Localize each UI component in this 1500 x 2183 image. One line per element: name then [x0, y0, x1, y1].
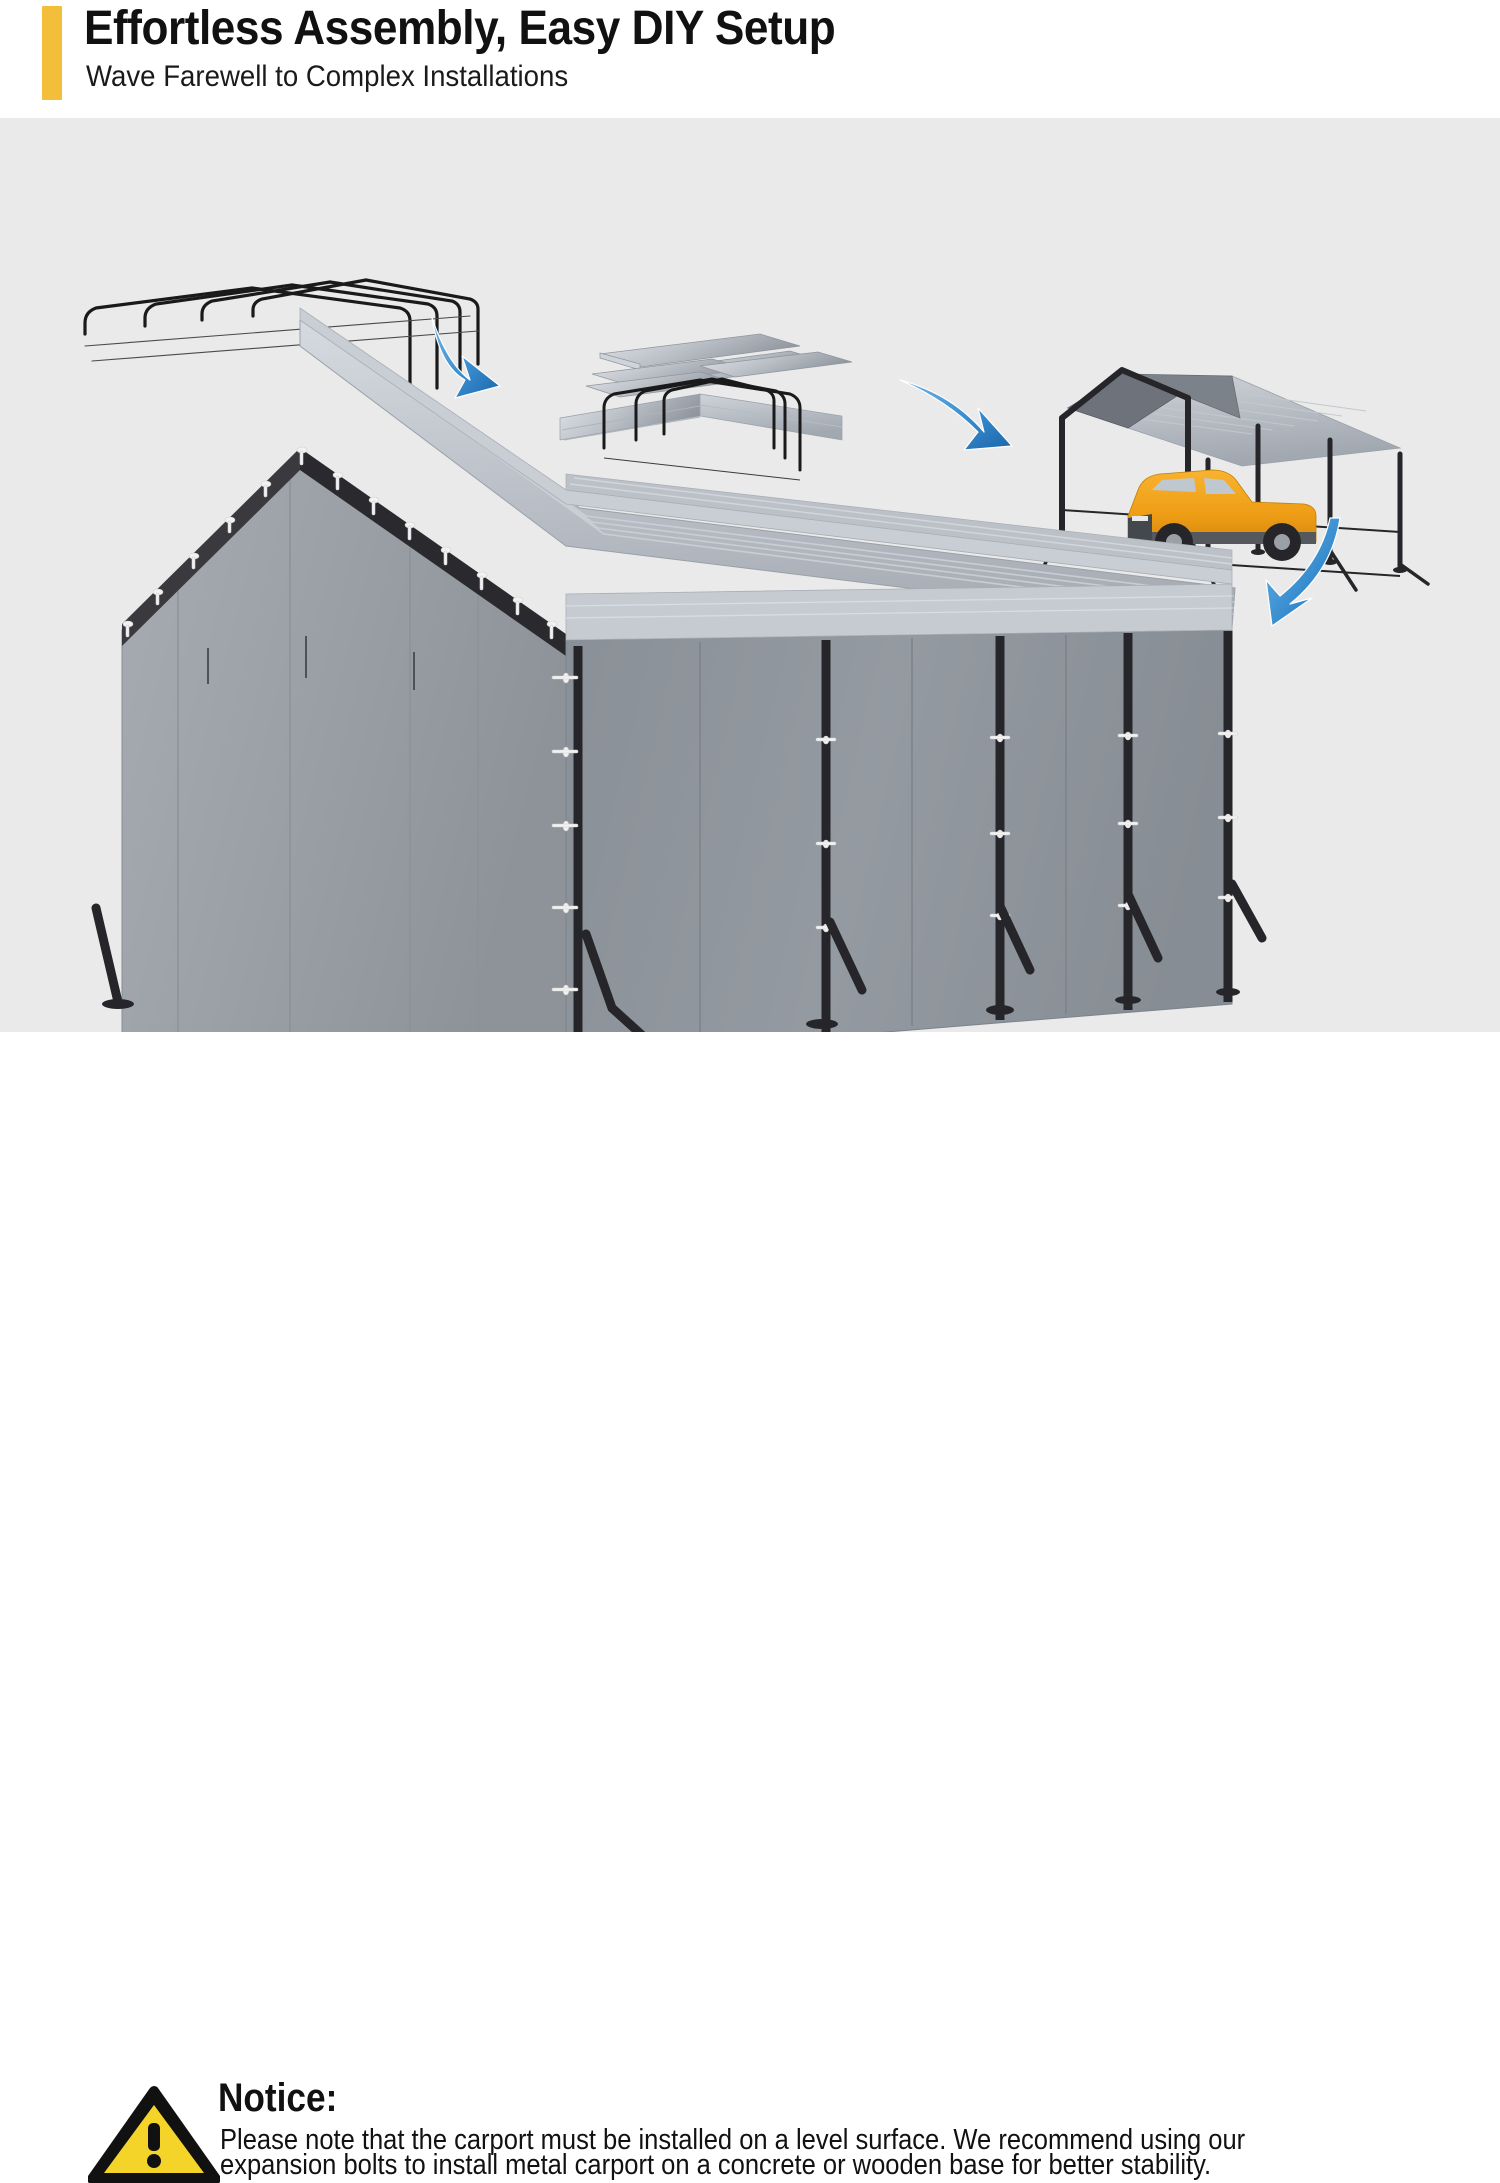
- header: Effortless Assembly, Easy DIY Setup Wave…: [0, 0, 1500, 118]
- step-1-frame-skeleton: [85, 280, 478, 408]
- notice-line-2: expansion bolts to install metal carport…: [220, 2149, 1211, 2182]
- arrow-step2-to-step3: [900, 380, 1012, 450]
- page-title: Effortless Assembly, Easy DIY Setup: [84, 1, 835, 56]
- step-2-roof-panels: [560, 334, 852, 480]
- illustration-canvas: [0, 118, 1500, 1032]
- notice-section: Notice: Please note that the carport mus…: [0, 1032, 1500, 1155]
- accent-bar: [42, 6, 62, 100]
- warning-triangle-icon: [88, 2085, 220, 2183]
- infographic-page: Effortless Assembly, Easy DIY Setup Wave…: [0, 0, 1500, 1155]
- page-subtitle: Wave Farewell to Complex Installations: [86, 60, 568, 94]
- notice-title: Notice:: [218, 2076, 337, 2121]
- illustration-stage: [0, 118, 1500, 1032]
- arrow-step1-to-step2: [432, 318, 500, 398]
